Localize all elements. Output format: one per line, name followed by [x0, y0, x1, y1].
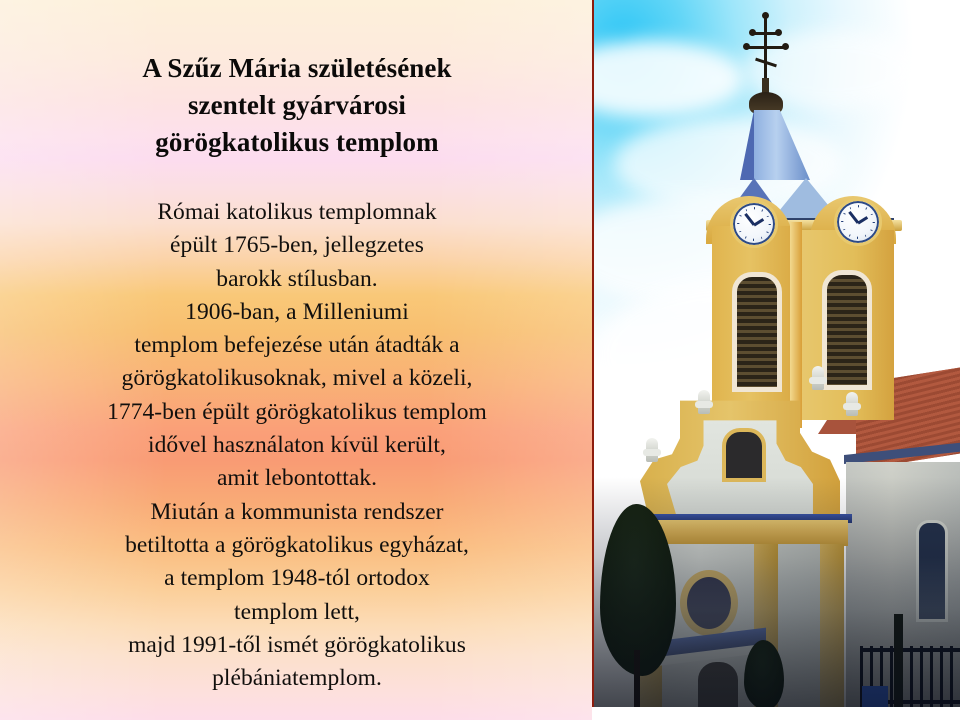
clock-ticks-left — [737, 207, 771, 241]
clock-ticks-right — [841, 205, 875, 239]
body-line-10: Miután a kommunista rendszer — [8, 496, 586, 529]
gable-statue-niche — [722, 428, 766, 482]
text-content-area: A Szűz Mária születésének szentelt gyárv… — [0, 0, 594, 720]
finial-center-right — [812, 366, 824, 390]
clock-face-left — [730, 200, 778, 248]
cross-ornament-5 — [775, 29, 782, 36]
cross-ornament-3 — [762, 12, 769, 19]
cross-bar-main — [746, 46, 786, 49]
finial-left — [646, 438, 658, 462]
finial-center-left — [698, 390, 710, 414]
clock-face-right — [834, 198, 882, 246]
body-line-7: 1774-ben épült görögkatolikus templom — [8, 396, 586, 429]
body-line-1: Római katolikus templomnak — [8, 196, 586, 229]
body-line-6: görögkatolikusoknak, mivel a közeli, — [8, 362, 586, 395]
body-line-14: majd 1991-től ismét görögkatolikus — [8, 629, 586, 662]
page-title: A Szűz Mária születésének szentelt gyárv… — [14, 50, 580, 161]
title-line-3: görögkatolikus templom — [14, 124, 580, 161]
belfry-window-left — [732, 272, 782, 392]
spire-upper-left-face — [740, 110, 754, 180]
cross-ornament-4 — [749, 29, 756, 36]
body-paragraph: Római katolikus templomnak épült 1765-be… — [8, 196, 586, 695]
presentation-slide: A Szűz Mária születésének szentelt gyárv… — [0, 0, 960, 720]
cross-ornament-1 — [743, 43, 750, 50]
body-line-9: amit lebontottak. — [8, 462, 586, 495]
body-line-5: templom befejezése után átadták a — [8, 329, 586, 362]
body-line-15: plébániatemplom. — [8, 662, 586, 695]
title-line-1: A Szűz Mária születésének — [14, 50, 580, 87]
foreground-shadow — [594, 477, 960, 707]
tower-corner-pilaster — [790, 222, 802, 428]
title-line-2: szentelt gyárvárosi — [14, 87, 580, 124]
body-line-12: a templom 1948-tól ortodox — [8, 562, 586, 595]
cross-ornament-2 — [782, 43, 789, 50]
body-line-4: 1906-ban, a Milleniumi — [8, 296, 586, 329]
cross-vertical — [764, 16, 767, 82]
body-line-11: betiltotta a görögkatolikus egyházat, — [8, 529, 586, 562]
cross-icon — [744, 16, 788, 82]
photo-canvas — [594, 0, 960, 707]
belfry-window-right — [822, 270, 872, 390]
finial-right — [846, 392, 858, 416]
photo-bottom-margin — [592, 707, 960, 720]
body-line-8: idővel használaton kívül került, — [8, 429, 586, 462]
body-line-2: épült 1765-ben, jellegzetes — [8, 229, 586, 262]
body-line-13: templom lett, — [8, 596, 586, 629]
body-line-3: barokk stílusban. — [8, 263, 586, 296]
church-photograph — [592, 0, 960, 707]
